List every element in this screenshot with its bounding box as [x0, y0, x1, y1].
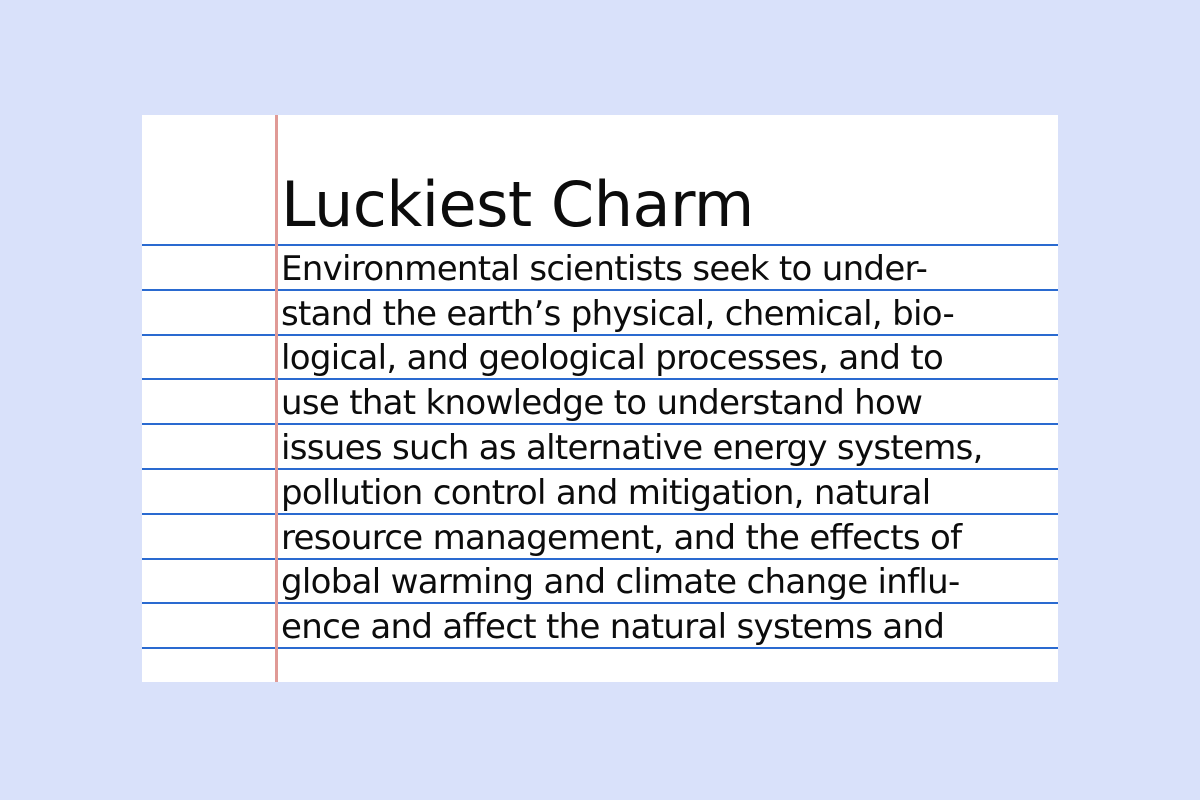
- margin-rule: [275, 115, 278, 682]
- body-text-line: resource management, and the effects of: [281, 513, 1058, 558]
- body-text-line: logical, and geological processes, and t…: [281, 334, 1058, 379]
- screenshot-canvas: Luckiest Charm Environmental scientists …: [0, 0, 1200, 800]
- body-text-line: issues such as alternative energy system…: [281, 423, 1058, 468]
- body-text-line: use that knowledge to understand how: [281, 378, 1058, 423]
- body-text-line: pollution control and mitigation, natura…: [281, 468, 1058, 513]
- page-title: Luckiest Charm: [281, 115, 1058, 244]
- body-text-line: ence and affect the natural systems and: [281, 602, 1058, 647]
- body-text-line: global warming and climate change influ-: [281, 558, 1058, 603]
- notebook-paper: Luckiest Charm Environmental scientists …: [142, 115, 1058, 682]
- paper-content: Luckiest Charm Environmental scientists …: [281, 115, 1058, 682]
- body-text-line: stand the earth’s physical, chemical, bi…: [281, 289, 1058, 334]
- body-text-line: Environmental scientists seek to under-: [281, 244, 1058, 289]
- body-text: Environmental scientists seek to under- …: [281, 244, 1058, 647]
